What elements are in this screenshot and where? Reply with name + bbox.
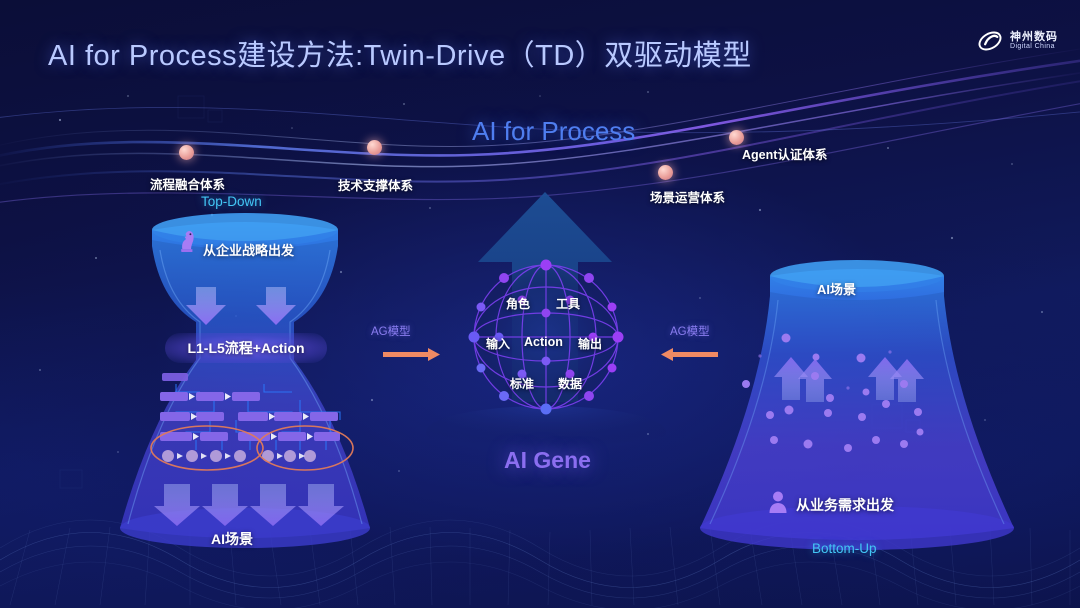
chess-knight-icon (175, 228, 197, 254)
sphere-node-label-3: 输入 (486, 335, 510, 352)
sphere-node-label-1: 角色 (506, 295, 530, 312)
sphere-node-label-6: 标准 (510, 375, 534, 392)
curve-node-label-4: Agent认证体系 (742, 144, 827, 163)
left-funnel-bottom-label: AI场景 (211, 529, 253, 549)
slide-canvas: AI for Process建设方法:Twin-Drive（TD）双驱动模型 神… (0, 0, 1080, 608)
tag-top-down: Top-Down (201, 194, 262, 209)
page-title: AI for Process建设方法:Twin-Drive（TD）双驱动模型 (48, 32, 752, 74)
right-funnel-particles (742, 334, 924, 453)
process-tree-diagram (151, 373, 353, 470)
logo-text-en: Digital China (1010, 43, 1058, 50)
brand-logo: 神州数码 Digital China (977, 28, 1058, 54)
l1-l5-process-pill: L1-L5流程+Action (165, 333, 327, 363)
curve-node-label-3: 场景运营体系 (650, 187, 725, 206)
left-funnel-top-label: 从企业战略出发 (203, 240, 294, 259)
ag-arrow-left (383, 348, 440, 361)
curve-node-label-2: 技术支撑体系 (338, 175, 413, 194)
tag-bottom-up: Bottom-Up (812, 541, 877, 556)
background-decoration (0, 0, 1080, 608)
logo-text-cn: 神州数码 (1010, 32, 1058, 44)
curve-node-dot-2 (367, 140, 382, 155)
sphere-node-label-7: 数据 (558, 375, 582, 392)
l1-l5-process-label: L1-L5流程+Action (187, 338, 304, 358)
sphere-node-label-5: 输出 (578, 335, 602, 352)
ag-model-label-left: AG模型 (371, 323, 411, 339)
right-funnel-bottom-label: 从业务需求出发 (796, 495, 894, 515)
center-up-arrow-icon (478, 192, 612, 402)
hero-center-label: AI for Process (472, 116, 635, 147)
curve-node-dot-3 (658, 165, 673, 180)
right-funnel-top-label: AI场景 (817, 279, 856, 298)
ai-gene-caption: AI Gene (504, 447, 591, 474)
slide-header: AI for Process建设方法:Twin-Drive（TD）双驱动模型 神… (0, 0, 1080, 86)
digital-china-swirl-icon (977, 28, 1003, 54)
highlight-ellipse-1 (151, 426, 263, 470)
right-funnel-up-arrows (774, 357, 924, 402)
curve-node-dot-1 (179, 145, 194, 160)
curve-node-dot-4 (729, 130, 744, 145)
left-funnel-shape (120, 213, 370, 548)
curve-node-label-1: 流程融合体系 (150, 174, 225, 193)
ag-arrow-right (661, 348, 718, 361)
left-funnel-down-arrows (154, 484, 344, 526)
left-funnel-neck-arrows (186, 287, 296, 325)
highlight-ellipse-2 (257, 426, 353, 470)
sphere-node-label-4: Action (524, 335, 563, 349)
person-icon (768, 490, 788, 514)
sphere-node-label-2: 工具 (556, 295, 580, 312)
ag-model-label-right: AG模型 (670, 323, 710, 339)
